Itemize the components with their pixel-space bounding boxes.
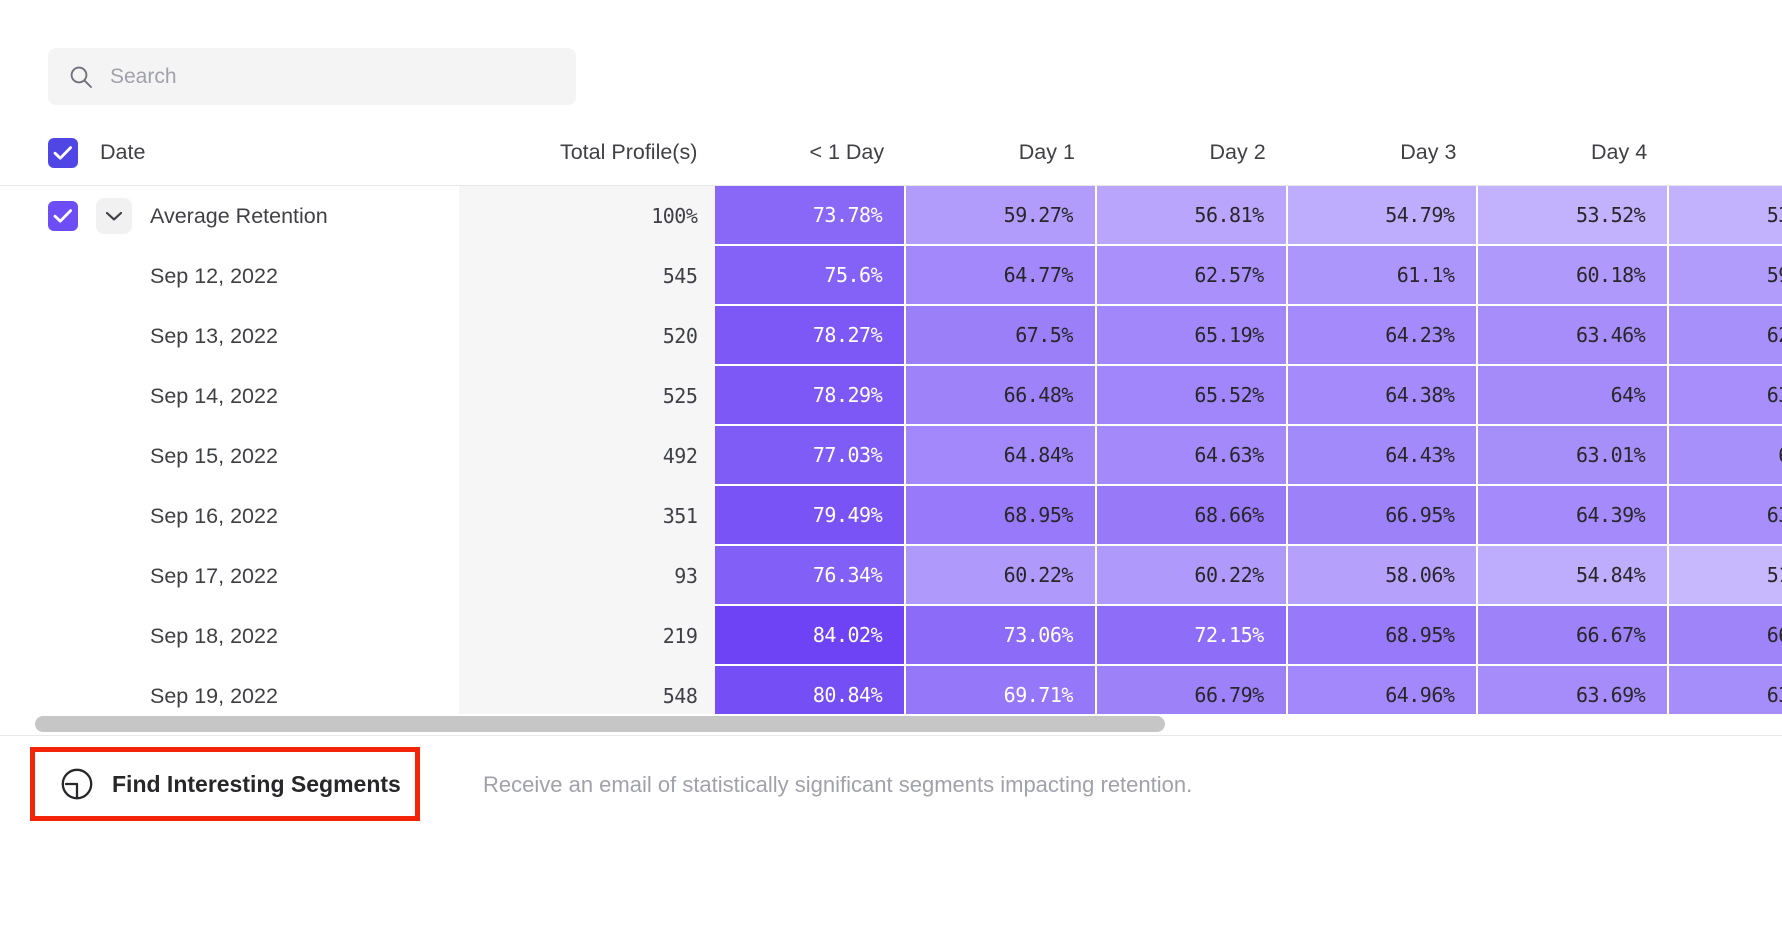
column-header-date: Date [0, 120, 459, 186]
row-date-cell: Sep 14, 2022 [0, 366, 459, 426]
retention-cell: 64.63% [1097, 426, 1288, 486]
retention-cell: 68.66% [1097, 486, 1288, 546]
column-header-day-4[interactable]: Day 4 [1478, 120, 1669, 186]
table-row: Sep 16, 202235179.49%68.95%68.66%66.95%6… [0, 486, 1782, 546]
retention-cell: 75.6% [715, 246, 906, 306]
table-header: Date Total Profile(s) < 1 Day Day 1 Day … [0, 120, 1782, 186]
row-total-profiles-cell: 93 [459, 546, 715, 606]
row-date-cell: Sep 13, 2022 [0, 306, 459, 366]
retention-cell: 62.57% [1097, 246, 1288, 306]
row-date-cell: Sep 19, 2022 [0, 666, 459, 716]
retention-cell: 64.23% [1288, 306, 1479, 366]
retention-cell: 64.39% [1478, 486, 1669, 546]
row-date-label: Sep 14, 2022 [150, 384, 278, 409]
row-date-label: Sep 13, 2022 [150, 324, 278, 349]
retention-cell: 64.77% [906, 246, 1097, 306]
row-date-cell: Sep 18, 2022 [0, 606, 459, 666]
row-date-cell: Sep 17, 2022 [0, 546, 459, 606]
column-header-day-3[interactable]: Day 3 [1288, 120, 1479, 186]
column-header-total-profiles[interactable]: Total Profile(s) [459, 120, 715, 186]
retention-cell: 63.32% [1669, 666, 1782, 716]
retention-cell: 66.79% [1097, 666, 1288, 716]
retention-cell: 60.22% [1097, 546, 1288, 606]
row-total-profiles-cell: 520 [459, 306, 715, 366]
retention-cell: 58.06% [1288, 546, 1479, 606]
find-interesting-segments-button[interactable]: Find Interesting Segments [35, 752, 415, 816]
retention-cell: 66.67% [1478, 606, 1669, 666]
retention-cell: 77.03% [715, 426, 906, 486]
column-header-lt-1-day[interactable]: < 1 Day [715, 120, 906, 186]
row-date-cell: Sep 12, 2022 [0, 246, 459, 306]
retention-cell: 62.6% [1669, 426, 1782, 486]
retention-cell: 63.69% [1478, 666, 1669, 716]
retention-cell: 61.1% [1288, 246, 1479, 306]
table-row: Sep 12, 202254575.6%64.77%62.57%61.1%60.… [0, 246, 1782, 306]
horizontal-scrollbar-thumb[interactable] [35, 716, 1165, 732]
summary-row-label: Average Retention [150, 204, 328, 229]
retention-cell: 66.48% [906, 366, 1097, 426]
retention-cell: 53.26% [1669, 186, 1782, 246]
chevron-down-icon[interactable] [96, 198, 132, 234]
row-date-label: Sep 12, 2022 [150, 264, 278, 289]
segments-icon [60, 767, 94, 801]
retention-cell: 73.78% [715, 186, 906, 246]
column-header-date-label: Date [100, 140, 145, 165]
retention-cell: 54.84% [1478, 546, 1669, 606]
retention-cell: 68.95% [1288, 606, 1479, 666]
retention-cell: 68.95% [906, 486, 1097, 546]
retention-cell: 73.06% [906, 606, 1097, 666]
row-date-label: Sep 18, 2022 [150, 624, 278, 649]
table-row: Sep 18, 202221984.02%73.06%72.15%68.95%6… [0, 606, 1782, 666]
search-icon [68, 64, 94, 90]
retention-cell: 63.25% [1669, 486, 1782, 546]
retention-cell: 60.18% [1478, 246, 1669, 306]
column-header-day-1[interactable]: Day 1 [906, 120, 1097, 186]
find-segments-label: Find Interesting Segments [112, 771, 401, 798]
select-all-checkbox[interactable] [48, 138, 78, 168]
row-total-profiles-cell: 100% [459, 186, 715, 246]
row-total-profiles-cell: 545 [459, 246, 715, 306]
row-date-label: Sep 17, 2022 [150, 564, 278, 589]
retention-cell: 63.46% [1478, 306, 1669, 366]
retention-cell: 78.27% [715, 306, 906, 366]
retention-cell: 64% [1478, 366, 1669, 426]
retention-cell: 64.43% [1288, 426, 1479, 486]
retention-cell: 54.79% [1288, 186, 1479, 246]
retention-cell: 80.84% [715, 666, 906, 716]
row-date-label: Sep 19, 2022 [150, 684, 278, 709]
retention-cell: 62.69% [1669, 306, 1782, 366]
retention-cell: 66.21% [1669, 606, 1782, 666]
row-total-profiles-cell: 492 [459, 426, 715, 486]
row-date-label: Sep 16, 2022 [150, 504, 278, 529]
retention-table: Date Total Profile(s) < 1 Day Day 1 Day … [0, 120, 1782, 716]
summary-row: Average Retention100%73.78%59.27%56.81%5… [0, 186, 1782, 246]
retention-cell: 65.52% [1097, 366, 1288, 426]
retention-cell: 56.81% [1097, 186, 1288, 246]
retention-cell: 60.22% [906, 546, 1097, 606]
column-header-day-2[interactable]: Day 2 [1097, 120, 1288, 186]
table-row: Sep 17, 20229376.34%60.22%60.22%58.06%54… [0, 546, 1782, 606]
retention-cell: 78.29% [715, 366, 906, 426]
retention-cell: 59.27% [906, 186, 1097, 246]
retention-cell: 59.27% [1669, 246, 1782, 306]
footer-bar: Find Interesting Segments Receive an ema… [0, 736, 1782, 930]
table-row: Sep 15, 202249277.03%64.84%64.63%64.43%6… [0, 426, 1782, 486]
retention-cell: 66.95% [1288, 486, 1479, 546]
summary-row-label-cell: Average Retention [0, 186, 459, 246]
retention-cell: 76.34% [715, 546, 906, 606]
table-row: Sep 14, 202252578.29%66.48%65.52%64.38%6… [0, 366, 1782, 426]
column-header-day-5[interactable]: Day 5 [1669, 120, 1782, 186]
retention-cell: 51.61% [1669, 546, 1782, 606]
retention-cell: 72.15% [1097, 606, 1288, 666]
retention-cell: 64.38% [1288, 366, 1479, 426]
header-row: Date Total Profile(s) < 1 Day Day 1 Day … [0, 120, 1782, 186]
retention-cell: 63.24% [1669, 366, 1782, 426]
find-segments-highlight: Find Interesting Segments [30, 747, 420, 821]
row-date-cell: Sep 16, 2022 [0, 486, 459, 546]
row-total-profiles-cell: 525 [459, 366, 715, 426]
retention-cell: 64.84% [906, 426, 1097, 486]
footer-description: Receive an email of statistically signif… [483, 772, 1192, 798]
row-total-profiles-cell: 219 [459, 606, 715, 666]
table-body: Average Retention100%73.78%59.27%56.81%5… [0, 186, 1782, 716]
table-row: Sep 19, 202254880.84%69.71%66.79%64.96%6… [0, 666, 1782, 716]
row-checkbox[interactable] [48, 201, 78, 231]
retention-cell: 79.49% [715, 486, 906, 546]
row-date-cell: Sep 15, 2022 [0, 426, 459, 486]
search-bar[interactable] [48, 48, 576, 105]
retention-table-screen: Date Total Profile(s) < 1 Day Day 1 Day … [0, 0, 1782, 930]
retention-cell: 63.01% [1478, 426, 1669, 486]
row-total-profiles-cell: 548 [459, 666, 715, 716]
retention-cell: 69.71% [906, 666, 1097, 716]
retention-table-scroll-area[interactable]: Date Total Profile(s) < 1 Day Day 1 Day … [0, 120, 1782, 716]
retention-cell: 65.19% [1097, 306, 1288, 366]
row-date-label: Sep 15, 2022 [150, 444, 278, 469]
retention-cell: 53.52% [1478, 186, 1669, 246]
table-row: Sep 13, 202252078.27%67.5%65.19%64.23%63… [0, 306, 1782, 366]
row-total-profiles-cell: 351 [459, 486, 715, 546]
retention-cell: 64.96% [1288, 666, 1479, 716]
search-input[interactable] [108, 48, 556, 105]
retention-cell: 84.02% [715, 606, 906, 666]
retention-cell: 67.5% [906, 306, 1097, 366]
